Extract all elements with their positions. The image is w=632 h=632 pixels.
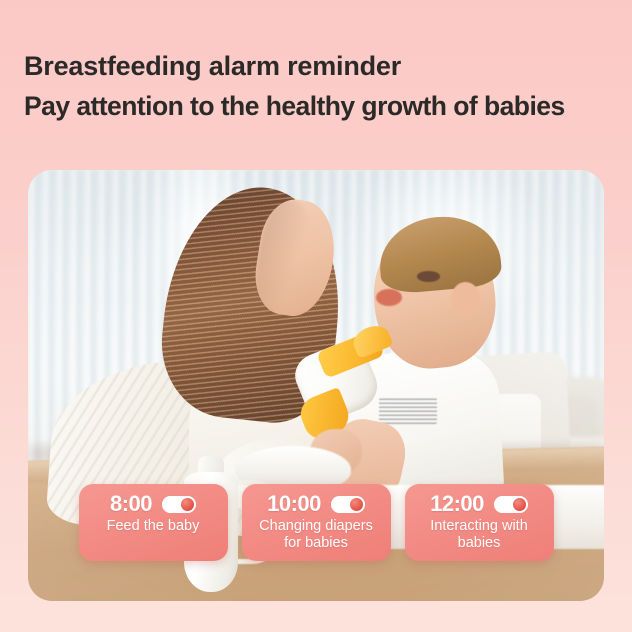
baby-ear xyxy=(451,282,480,316)
reminder-time: 12:00 xyxy=(430,492,484,516)
page-title-line-2: Pay attention to the healthy growth of b… xyxy=(24,86,624,126)
toggle-knob-icon xyxy=(181,498,194,511)
reminder-card-list: 8:00 Feed the baby 10:00 Changing diaper… xyxy=(0,484,632,561)
baby-eye xyxy=(417,271,440,281)
reminder-toggle[interactable] xyxy=(162,496,196,513)
reminder-card[interactable]: 12:00 Interacting with babies xyxy=(405,484,554,561)
reminder-card-header: 10:00 xyxy=(248,492,385,516)
toggle-knob-icon xyxy=(513,498,526,511)
reminder-toggle[interactable] xyxy=(331,496,365,513)
reminder-label: Changing diapers for babies xyxy=(248,518,385,552)
page-header: Breastfeeding alarm reminder Pay attenti… xyxy=(24,46,624,126)
toggle-knob-icon xyxy=(350,498,363,511)
reminder-card[interactable]: 8:00 Feed the baby xyxy=(79,484,228,561)
baby-mouth xyxy=(376,289,402,306)
reminder-toggle[interactable] xyxy=(494,496,528,513)
reminder-card-header: 8:00 xyxy=(85,492,222,516)
reminder-label: Interacting with babies xyxy=(411,518,548,552)
reminder-card-header: 12:00 xyxy=(411,492,548,516)
baby-shirt-print xyxy=(379,398,437,424)
reminder-card[interactable]: 10:00 Changing diapers for babies xyxy=(242,484,391,561)
reminder-time: 10:00 xyxy=(267,492,321,516)
page-title-line-1: Breastfeeding alarm reminder xyxy=(24,46,624,86)
reminder-time: 8:00 xyxy=(110,492,152,516)
reminder-label: Feed the baby xyxy=(85,518,222,535)
